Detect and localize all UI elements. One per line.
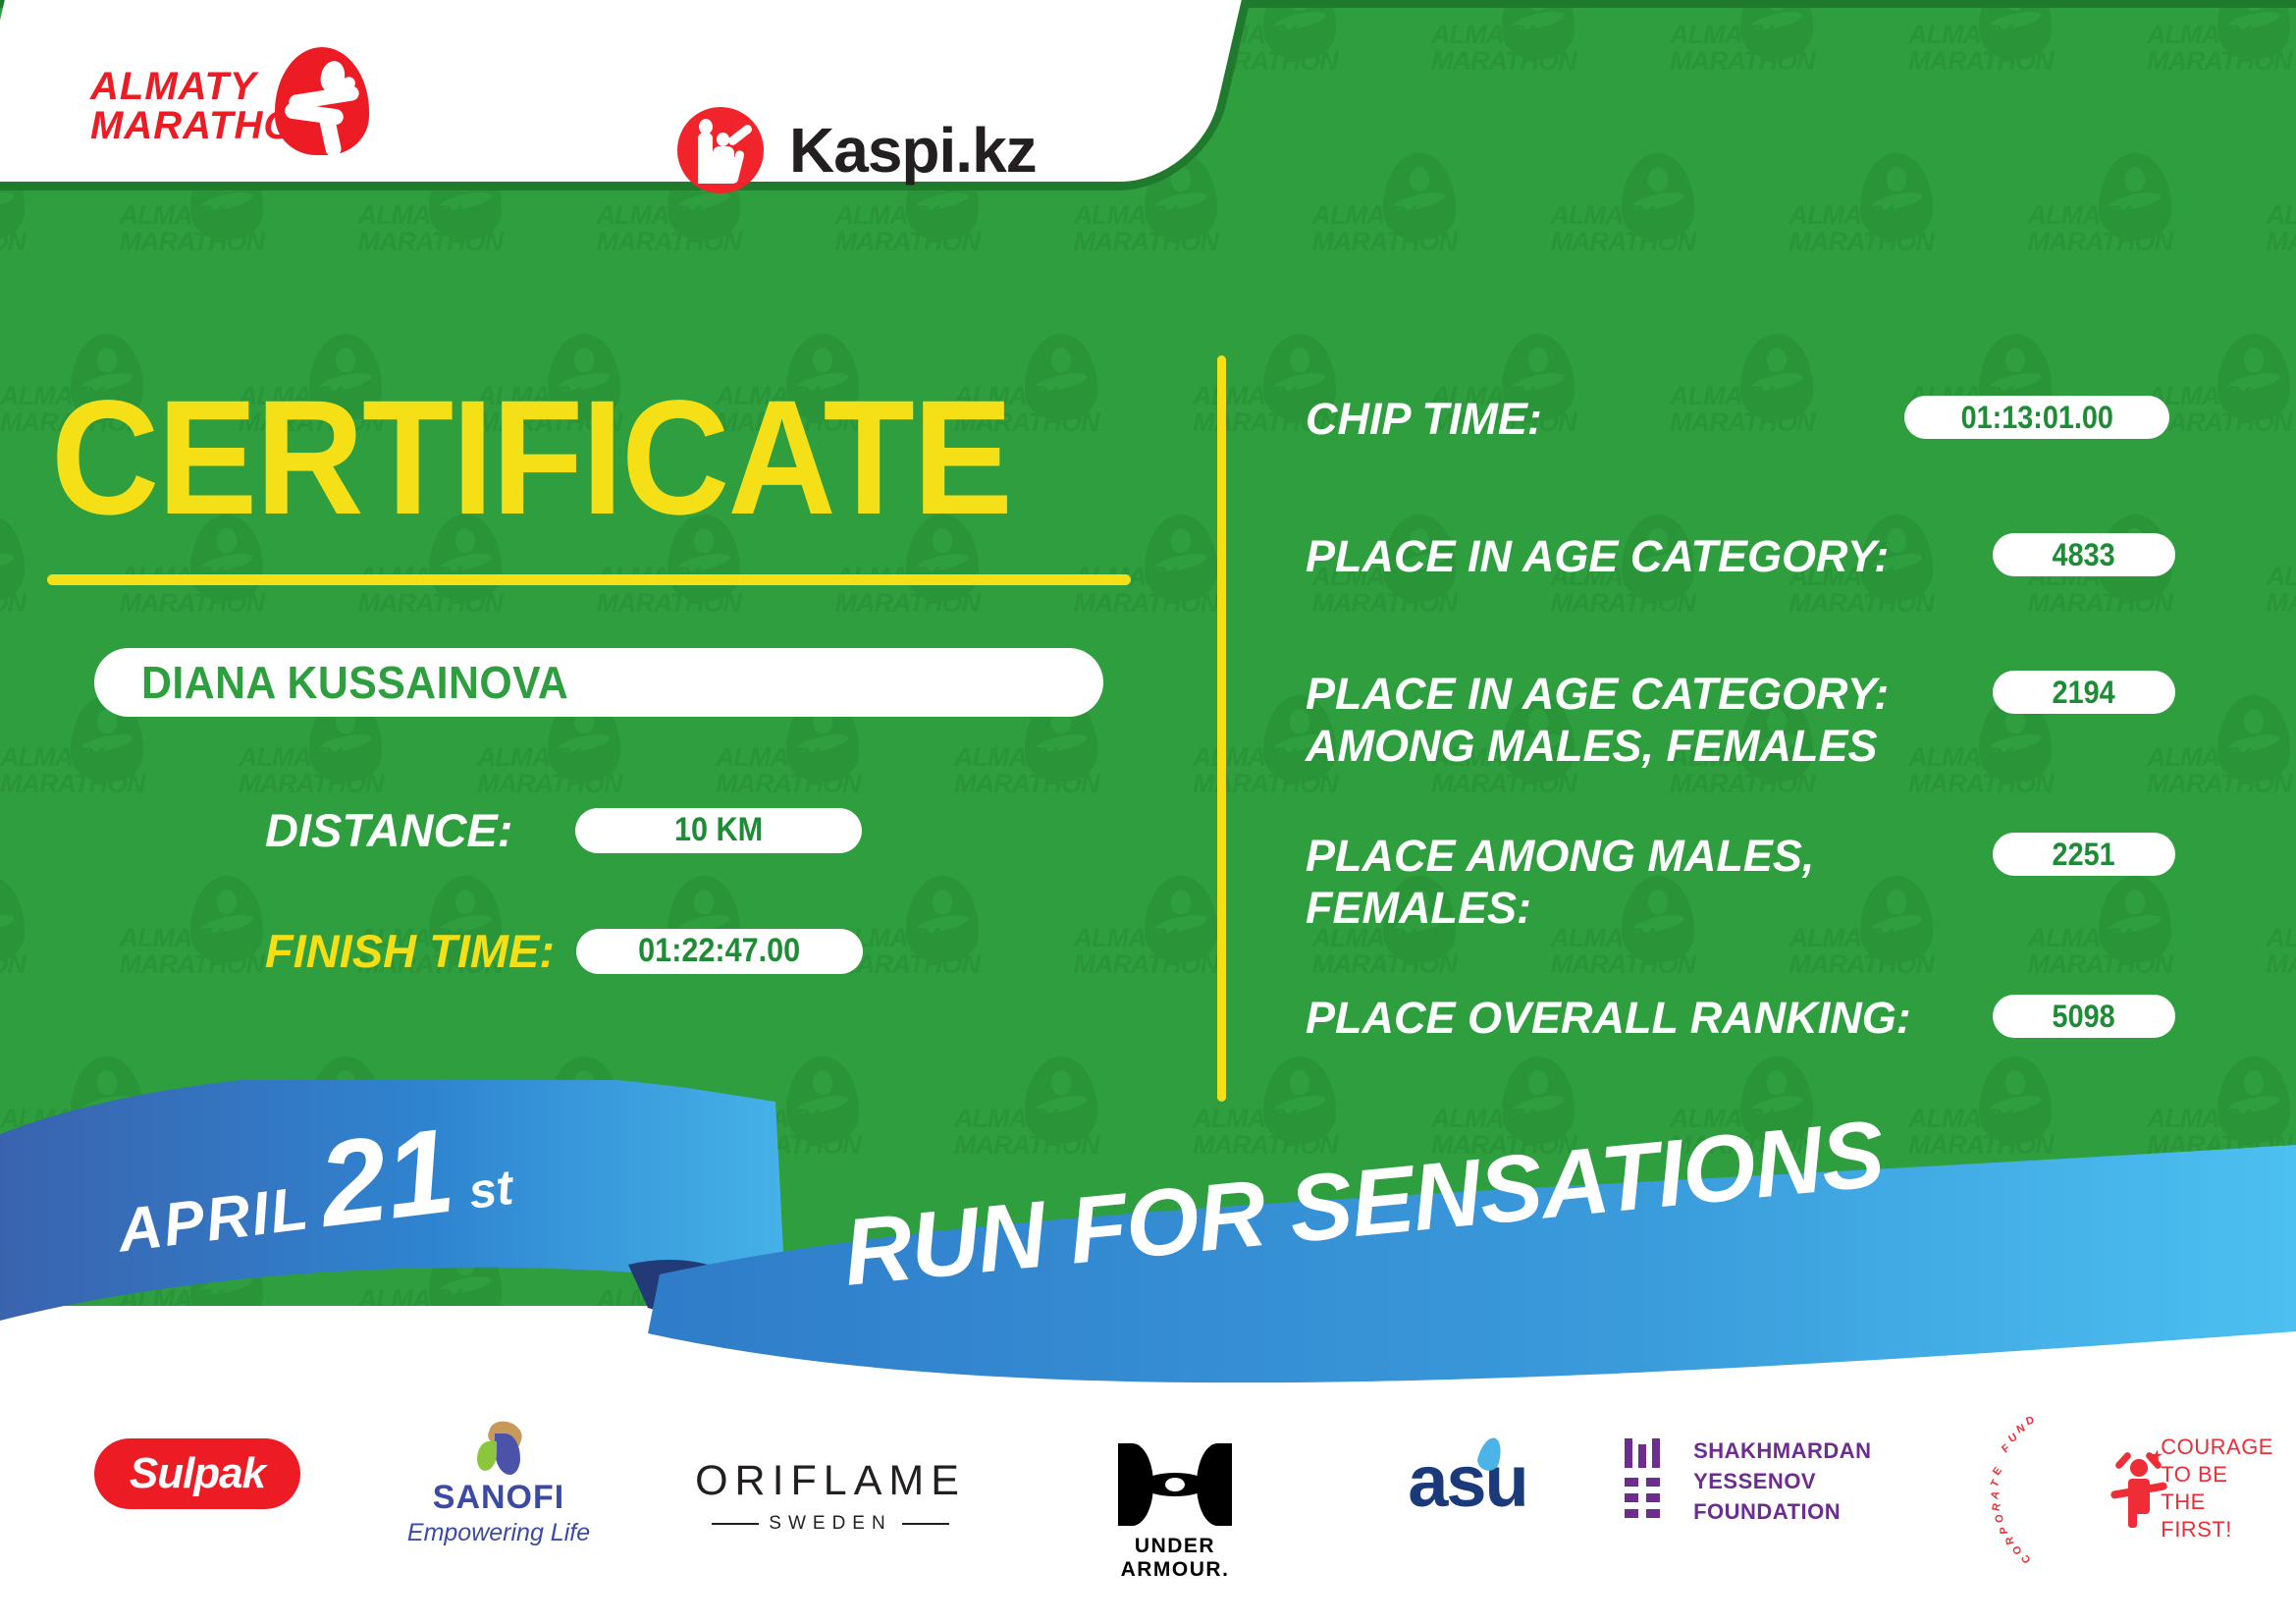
kaspi-wordmark: Kaspi.kz [789, 114, 1037, 187]
stat-place-among-males-females: PLACE AMONG MALES, FEMALES: 2251 [1306, 830, 2189, 934]
participant-name: DIANA KUSSAINOVA [141, 656, 568, 709]
watermark-label: ALMATYMARATHON [2267, 564, 2296, 617]
yessenov-bars-icon [1625, 1438, 1674, 1525]
watermark-tile: ALMATYMARATHON [2028, 151, 2200, 306]
page-title: CERTIFICATE [51, 377, 1062, 540]
watermark-label: ALMATYMARATHON [1431, 22, 1569, 75]
arc-char: D [2025, 1414, 2036, 1428]
watermark-tile: ALMATYMARATHON [2267, 874, 2296, 1029]
sanofi-icon [469, 1422, 528, 1475]
watermark-label: ALMATYMARATHON [2267, 202, 2296, 255]
stat-value: 5098 [2053, 999, 2115, 1035]
watermark-label: ALMATYMARATHON [1551, 202, 1688, 255]
watermark-label: ALMATYMARATHON [1789, 202, 1927, 255]
watermark-label: ALMATYMARATHON [0, 744, 137, 797]
ribbon-day: 21 [314, 1115, 459, 1239]
watermark-label: ALMATYMARATHON [477, 744, 614, 797]
watermark-label: ALMATYMARATHON [2267, 925, 2296, 978]
sanofi-tagline: Empowering Life [391, 1519, 607, 1547]
watermark-label: ALMATYMARATHON [835, 202, 973, 255]
stat-value: 2251 [2053, 837, 2115, 873]
watermark-tile: ALMATYMARATHON [1312, 151, 1484, 306]
corporate-fund-arc-text: CORPORATE FUND [2048, 1444, 2103, 1533]
kaspi-people-icon [677, 107, 764, 193]
arc-char: C [2019, 1552, 2033, 1565]
yessenov-line1: SHAKHMARDAN YESSENOV [1693, 1435, 1978, 1496]
sanofi-wordmark: SANOFI [391, 1479, 607, 1517]
stat-value: 4833 [2053, 537, 2115, 573]
arc-char: R [2003, 1536, 2016, 1545]
stat-value: 01:13:01.00 [1960, 400, 2112, 436]
watermark-label: ALMATYMARATHON [716, 744, 853, 797]
courage-wordmark: COURAGE TO BE THE FIRST! [2161, 1434, 2273, 1543]
watermark-label: ALMATYMARATHON [1312, 202, 1450, 255]
stat-label: PLACE IN AGE CATEGORY: AMONG MALES, FEMA… [1306, 668, 1889, 772]
stat-value: 2194 [2053, 675, 2115, 711]
watermark-label: ALMATYMARATHON [597, 202, 734, 255]
under-armour-icon [1116, 1443, 1234, 1526]
watermark-tile: ALMATYMARATHON [0, 874, 53, 1029]
watermark-label: ALMATYMARATHON [597, 564, 734, 617]
courage-line1: COURAGE [2161, 1434, 2273, 1461]
stat-place-overall-ranking: PLACE OVERALL RANKING: 5098 [1306, 992, 2189, 1044]
courage-figure-icon: ★ [2112, 1447, 2151, 1530]
watermark-label: ALMATYMARATHON [358, 202, 496, 255]
stat-label: PLACE OVERALL RANKING: [1306, 992, 1911, 1044]
title-divider [47, 574, 1131, 585]
watermark-label: ALMATYMARATHON [120, 925, 257, 978]
courage-line3: THE FIRST! [2161, 1489, 2273, 1543]
arc-char: O [1994, 1514, 2005, 1523]
sulpak-wordmark: Sulpak [130, 1449, 265, 1498]
distance-value: 10 KM [674, 811, 763, 849]
watermark-label: ALMATYMARATHON [1670, 22, 1807, 75]
runner-drop-icon [275, 47, 369, 155]
stat-value-pill: 2251 [1993, 833, 2175, 876]
sponsor-oriflame: ORIFLAME SWEDEN [693, 1457, 968, 1535]
watermark-label: ALMATYMARATHON [835, 564, 973, 617]
watermark-label: ALMATYMARATHON [120, 202, 257, 255]
arc-char: T [1989, 1478, 2002, 1489]
stat-value-pill: 5098 [1993, 995, 2175, 1038]
watermark-tile: ALMATYMARATHON [1908, 0, 2080, 126]
stat-place-age-category: PLACE IN AGE CATEGORY: 4833 [1306, 530, 2189, 582]
watermark-label: ALMATYMARATHON [1074, 202, 1211, 255]
finish-time-value: 01:22:47.00 [639, 932, 801, 970]
finish-time-row: FINISH TIME: 01:22:47.00 [265, 924, 863, 978]
watermark-label: ALMATYMARATHON [120, 564, 257, 617]
watermark-label: ALMATYMARATHON [2028, 202, 2165, 255]
watermark-tile: ALMATYMARATHON [2267, 151, 2296, 306]
watermark-label: ALMATYMARATHON [358, 564, 496, 617]
column-divider [1217, 355, 1226, 1102]
under-armour-wordmark: UNDER ARMOUR. [1082, 1535, 1268, 1582]
arc-char: O [2010, 1544, 2024, 1556]
arc-char: N [2015, 1422, 2027, 1435]
watermark-label: ALMATYMARATHON [0, 925, 19, 978]
watermark-label: ALMATYMARATHON [1074, 925, 1211, 978]
arc-char: P [1999, 1527, 2011, 1535]
watermark-tile: ALMATYMARATHON [1670, 0, 1842, 126]
distance-row: DISTANCE: 10 KM [265, 803, 862, 857]
sponsor-asu: asu [1369, 1445, 1566, 1518]
stat-value-pill: 4833 [1993, 533, 2175, 576]
stat-value-pill: 2194 [1993, 671, 2175, 714]
courage-line2: TO BE [2161, 1461, 2273, 1489]
finish-time-value-pill: 01:22:47.00 [576, 929, 863, 974]
yessenov-wordmark: SHAKHMARDAN YESSENOV FOUNDATION [1693, 1435, 1978, 1527]
sponsor-shakhmardan-yessenov-foundation: SHAKHMARDAN YESSENOV FOUNDATION [1625, 1435, 1978, 1527]
arc-char: U [2006, 1432, 2019, 1445]
asu-wordmark: asu [1369, 1445, 1566, 1518]
oriflame-wordmark: ORIFLAME [693, 1457, 968, 1505]
kaspi-logo: Kaspi.kz [677, 96, 1090, 204]
stat-place-age-category-among: PLACE IN AGE CATEGORY: AMONG MALES, FEMA… [1306, 668, 2189, 772]
watermark-tile: ALMATYMARATHON [0, 513, 53, 668]
arc-char: E [1991, 1465, 2004, 1478]
arc-char: R [1991, 1502, 2003, 1512]
watermark-label: ALMATYMARATHON [2147, 22, 2284, 75]
watermark-label: ALMATYMARATHON [954, 744, 1092, 797]
sponsor-corporate-fund: CORPORATE FUND ★ COURAGE TO BE THE FIRST… [2048, 1434, 2273, 1543]
stat-label: CHIP TIME: [1306, 393, 1542, 445]
watermark-tile: ALMATYMARATHON [1789, 151, 1961, 306]
oriflame-sub: SWEDEN [693, 1513, 968, 1535]
stat-value-pill: 01:13:01.00 [1904, 396, 2169, 439]
stat-chip-time: CHIP TIME: 01:13:01.00 [1306, 393, 2189, 445]
rule-right [902, 1523, 949, 1525]
watermark-tile: ALMATYMARATHON [2147, 0, 2296, 126]
stat-label: PLACE AMONG MALES, FEMALES: [1306, 830, 1814, 934]
yessenov-line2: FOUNDATION [1693, 1496, 1978, 1527]
almaty-marathon-logo: ALMATY MARATHON [90, 43, 414, 161]
rule-left [712, 1523, 759, 1525]
distance-value-pill: 10 KM [575, 808, 862, 853]
sponsor-under-armour: UNDER ARMOUR. [1082, 1443, 1268, 1582]
arc-char: F [2000, 1442, 2012, 1456]
watermark-label: ALMATYMARATHON [1074, 564, 1211, 617]
certificate-page: ALMATYMARATHONALMATYMARATHONALMATYMARATH… [0, 0, 2296, 1624]
watermark-label: ALMATYMARATHON [0, 202, 19, 255]
ribbon-ordinal: st [465, 1159, 515, 1220]
watermark-label: ALMATYMARATHON [1908, 22, 2046, 75]
watermark-tile: ALMATYMARATHON [1431, 0, 1603, 126]
watermark-tile: ALMATYMARATHON [1551, 151, 1723, 306]
watermark-label: ALMATYMARATHON [0, 564, 19, 617]
sponsor-sanofi: SANOFI Empowering Life [391, 1422, 607, 1549]
finish-time-label: FINISH TIME: [265, 924, 555, 978]
distance-label: DISTANCE: [265, 803, 512, 857]
stat-label: PLACE IN AGE CATEGORY: [1306, 530, 1889, 582]
sponsor-sulpak: Sulpak [94, 1438, 300, 1509]
watermark-tile: ALMATYMARATHON [2267, 513, 2296, 668]
watermark-label: ALMATYMARATHON [239, 744, 376, 797]
arc-char: A [1989, 1489, 2002, 1500]
participant-name-field: DIANA KUSSAINOVA [94, 648, 1103, 717]
oriflame-sweden: SWEDEN [769, 1513, 891, 1535]
